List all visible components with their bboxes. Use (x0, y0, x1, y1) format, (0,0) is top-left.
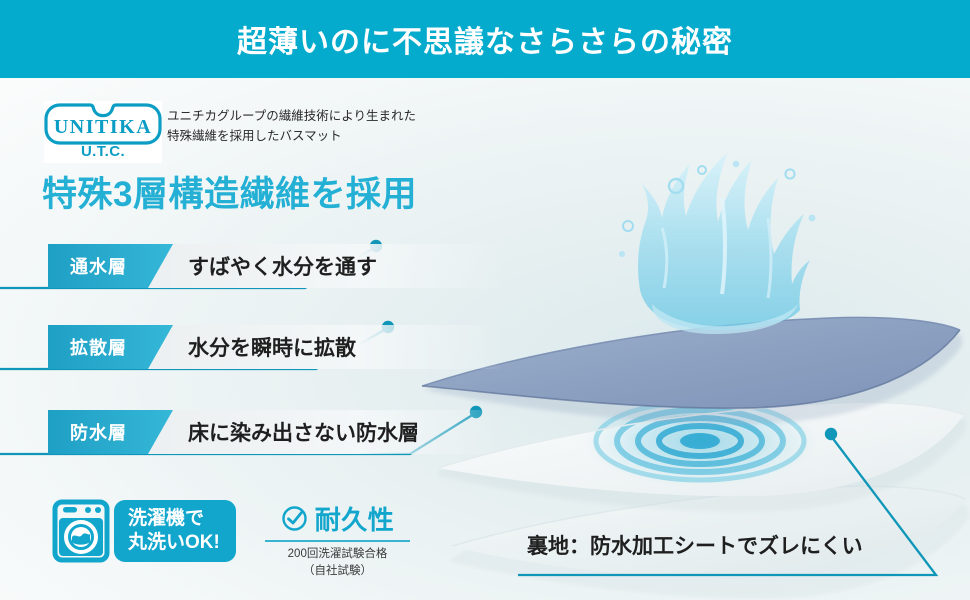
layer-badge-label: 通水層 (70, 253, 127, 279)
unitika-logo-text: UNITIKA (54, 116, 152, 138)
layer-row-waterproof: 防水層 床に染み出さない防水層 (48, 410, 503, 454)
durability-note-line-2: （自社試験） (265, 563, 410, 580)
check-circle-icon (281, 505, 308, 532)
unitika-logo-icon: UNITIKA (44, 101, 162, 145)
header-bar: 超薄いのに不思議なさらさらの秘密 (0, 0, 970, 78)
washable-badge: 洗濯機で 丸洗いOK! (52, 497, 236, 565)
washable-line-1: 洗濯機で (128, 507, 220, 530)
lead-line-1: ユニチカグループの繊維技術により生まれた (167, 107, 507, 127)
layer-description: すばやく水分を通す (188, 244, 377, 288)
layer-row-diffusion: 拡散層 水分を瞬時に拡散 (48, 325, 503, 369)
washable-line-2: 丸洗いOK! (128, 531, 220, 554)
layer-description: 床に染み出さない防水層 (188, 410, 419, 454)
infographic-root: 超薄いのに不思議なさらさらの秘密 UNITIKA U.T.C. ユニチカグループ… (0, 0, 970, 600)
durability-title: 耐久性 (315, 500, 395, 537)
durability-badge: 耐久性 200回洗濯試験合格 （自社試験） (265, 500, 410, 581)
water-splash-icon (619, 152, 815, 334)
layer-badge-label: 拡散層 (70, 334, 127, 360)
layer-row-permeable: 通水層 すばやく水分を通す (48, 244, 503, 288)
washing-machine-icon (52, 499, 110, 563)
layer-badge-label: 防水層 (70, 419, 127, 445)
page-title: 超薄いのに不思議なさらさらの秘密 (237, 17, 733, 61)
durability-divider (265, 540, 410, 542)
durability-note-line-1: 200回洗濯試験合格 (265, 546, 410, 563)
lead-paragraph: ユニチカグループの繊維技術により生まれた 特殊繊維を採用したバスマット (167, 107, 507, 147)
backing-caption: 裏地：防水加工シートでズレにくい (527, 530, 863, 560)
connector-dot-backing (825, 428, 837, 440)
durability-heading: 耐久性 (265, 500, 410, 537)
layer-description: 水分を瞬時に拡散 (188, 325, 356, 369)
brand-logo: UNITIKA U.T.C. (44, 101, 162, 163)
lead-line-2: 特殊繊維を採用したバスマット (167, 127, 507, 147)
section-headline: 特殊3層構造繊維を採用 (42, 166, 417, 217)
unitika-logo-subtext: U.T.C. (44, 143, 162, 160)
washable-pill: 洗濯機で 丸洗いOK! (114, 500, 236, 561)
durability-note: 200回洗濯試験合格 （自社試験） (265, 546, 410, 581)
